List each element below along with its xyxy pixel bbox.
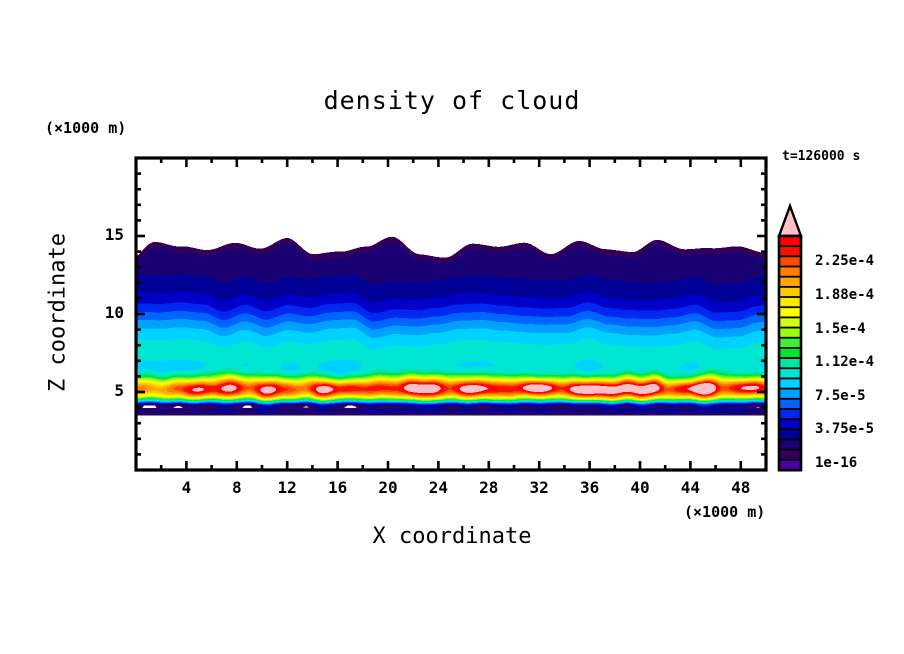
- y-tick-label: 5: [78, 381, 124, 400]
- y-tick-label: 15: [78, 225, 124, 244]
- figure-canvas: density of cloud (×1000 m) (×1000 m) t=1…: [0, 0, 904, 654]
- colorbar[interactable]: [779, 206, 801, 471]
- colorbar-tick-label: 2.25e-4: [815, 253, 874, 269]
- contour-fill-layers: [136, 237, 766, 416]
- x-tick-label: 48: [711, 478, 771, 497]
- colorbar-tick-label: 1.5e-4: [815, 321, 866, 337]
- colorbar-tick-label: 7.5e-5: [815, 388, 866, 404]
- colorbar-tick-label: 1.88e-4: [815, 287, 874, 303]
- colorbar-tick-label: 3.75e-5: [815, 421, 874, 437]
- colorbar-tick-label: 1e-16: [815, 455, 857, 471]
- contour-plot: [0, 0, 904, 654]
- y-tick-label: 10: [78, 303, 124, 322]
- colorbar-tick-label: 1.12e-4: [815, 354, 874, 370]
